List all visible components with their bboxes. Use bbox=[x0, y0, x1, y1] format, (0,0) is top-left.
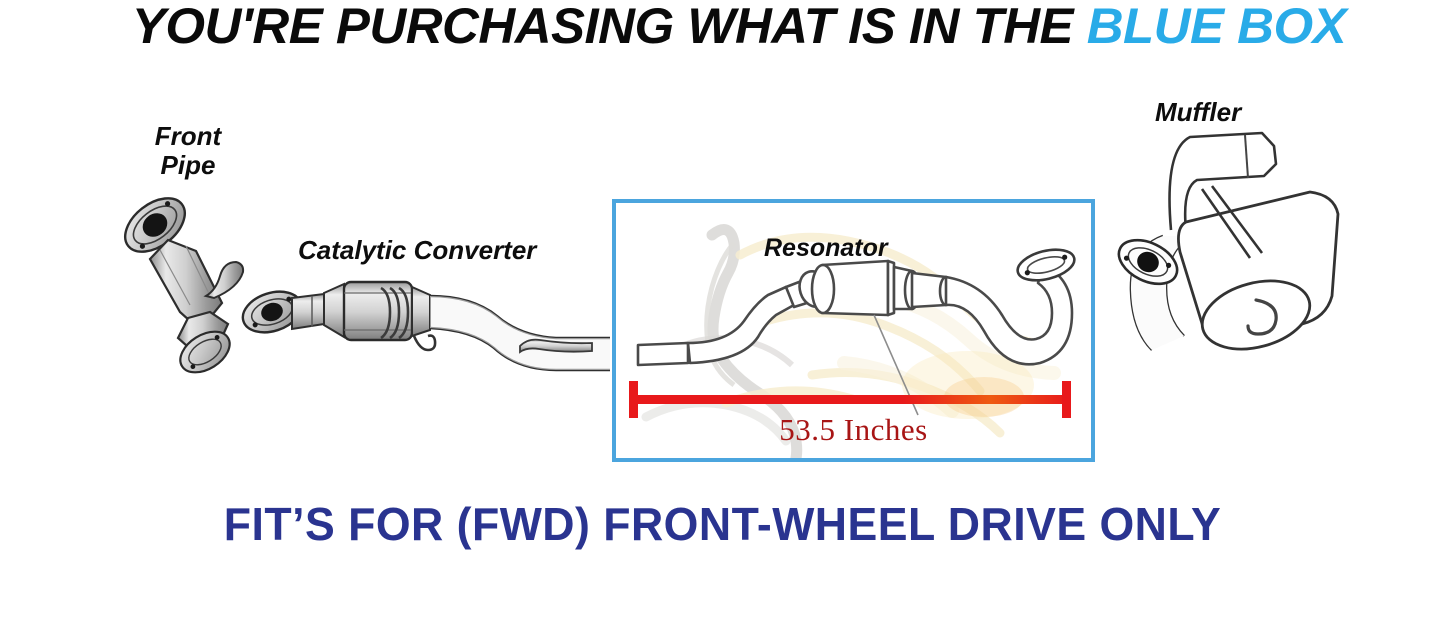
label-catalytic-converter: Catalytic Converter bbox=[298, 236, 536, 265]
front-pipe-icon bbox=[115, 188, 243, 381]
fitment-note: FIT’S FOR (FWD) FRONT-WHEEL DRIVE ONLY bbox=[22, 497, 1424, 551]
label-muffler: Muffler bbox=[1155, 98, 1241, 127]
catalytic-converter-icon bbox=[238, 282, 610, 370]
headline-black-text: YOU'RE PURCHASING WHAT IS IN THE bbox=[132, 0, 1087, 54]
label-resonator: Resonator bbox=[764, 234, 888, 262]
headline-banner: YOU'RE PURCHASING WHAT IS IN THE BLUE BO… bbox=[0, 0, 1445, 54]
resonator-icon bbox=[638, 244, 1078, 365]
muffler-icon bbox=[1112, 133, 1338, 360]
headline-blue-text: BLUE BOX bbox=[1087, 0, 1346, 54]
dimension-label: 53.5 Inches bbox=[616, 412, 1091, 448]
exhaust-system-diagram: YOU'RE PURCHASING WHAT IS IN THE BLUE BO… bbox=[0, 0, 1445, 619]
label-front-pipe: Front Pipe bbox=[128, 122, 248, 180]
